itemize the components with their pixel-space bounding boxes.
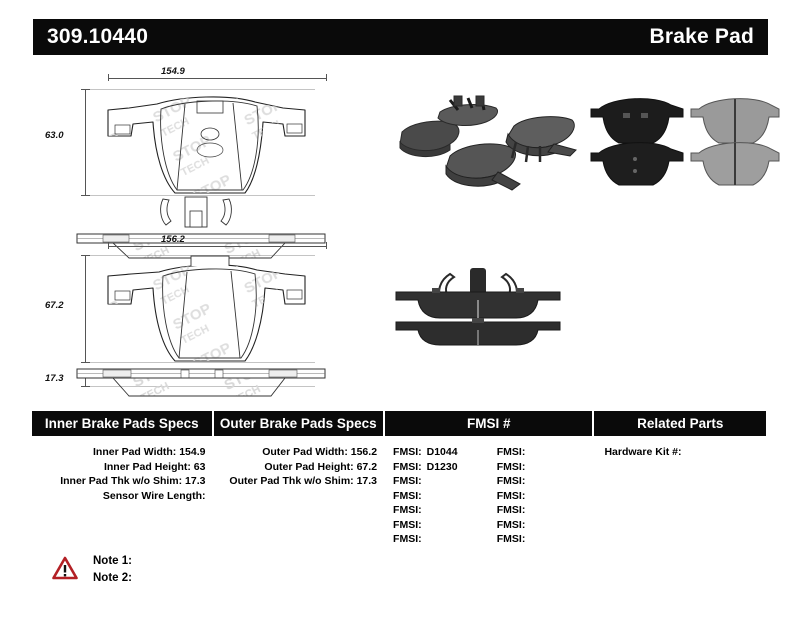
spec-row: Inner Pad Thk w/o Shim: 17.3 bbox=[32, 474, 212, 489]
product-photo-flat-pads bbox=[583, 87, 768, 187]
warning-triangle-icon bbox=[52, 556, 78, 580]
note-line-2: Note 2: bbox=[93, 570, 132, 587]
specs-table: Inner Brake Pads Specs Outer Brake Pads … bbox=[32, 411, 766, 547]
fmsi-row: FMSI: bbox=[489, 445, 593, 460]
fmsi-label: FMSI: bbox=[393, 504, 422, 516]
fmsi-row: FMSI:D1044 bbox=[385, 445, 489, 460]
fmsi-label: FMSI: bbox=[393, 461, 422, 473]
fmsi-value: D1044 bbox=[427, 446, 458, 458]
fmsi-label: FMSI: bbox=[393, 490, 422, 502]
specs-table-header-row: Inner Brake Pads Specs Outer Brake Pads … bbox=[32, 411, 766, 436]
fmsi-subcolumn-left: FMSI:D1044 FMSI:D1230 FMSI: FMSI: FMSI: … bbox=[385, 445, 489, 547]
fmsi-label: FMSI: bbox=[393, 533, 422, 545]
fmsi-column: FMSI:D1044 FMSI:D1230 FMSI: FMSI: FMSI: … bbox=[385, 445, 592, 547]
outer-specs-column: Outer Pad Width: 156.2 Outer Pad Height:… bbox=[214, 445, 384, 547]
note-list: Note 1: Note 2: bbox=[93, 553, 132, 587]
fmsi-row: FMSI: bbox=[489, 532, 593, 547]
note-line-1: Note 1: bbox=[93, 553, 132, 570]
product-type-label: Brake Pad bbox=[649, 25, 754, 49]
notes-section: Note 1: Note 2: bbox=[52, 553, 132, 587]
fmsi-row: FMSI: bbox=[385, 532, 489, 547]
header-related-parts: Related Parts bbox=[594, 411, 766, 436]
fmsi-label: FMSI: bbox=[497, 461, 526, 473]
fmsi-row: FMSI: bbox=[489, 460, 593, 475]
header-fmsi: FMSI # bbox=[385, 411, 592, 436]
fmsi-label: FMSI: bbox=[497, 490, 526, 502]
inner-specs-column: Inner Pad Width: 154.9 Inner Pad Height:… bbox=[32, 445, 212, 547]
outer-pad-edge-view bbox=[33, 366, 363, 411]
inner-pad-drawing: 154.9 63.0 STOP TECH bbox=[33, 62, 363, 222]
related-parts-column: Hardware Kit #: bbox=[594, 445, 766, 547]
fmsi-label: FMSI: bbox=[393, 446, 422, 458]
spec-row: Outer Pad Height: 67.2 bbox=[214, 460, 384, 475]
fmsi-row: FMSI: bbox=[385, 474, 489, 489]
fmsi-row: FMSI: bbox=[385, 518, 489, 533]
product-photo-angled-pads bbox=[388, 84, 588, 199]
spec-row: Outer Pad Width: 156.2 bbox=[214, 445, 384, 460]
spec-row: Inner Pad Width: 154.9 bbox=[32, 445, 212, 460]
related-parts-row: Hardware Kit #: bbox=[594, 445, 766, 460]
fmsi-label: FMSI: bbox=[393, 475, 422, 487]
fmsi-label: FMSI: bbox=[497, 504, 526, 516]
specs-table-body: Inner Pad Width: 154.9 Inner Pad Height:… bbox=[32, 436, 766, 547]
fmsi-row: FMSI: bbox=[489, 474, 593, 489]
product-photo-edge-pads bbox=[388, 252, 573, 347]
fmsi-subcolumn-right: FMSI: FMSI: FMSI: FMSI: FMSI: FMSI: FMSI… bbox=[489, 445, 593, 547]
outer-pad-outline bbox=[33, 230, 363, 370]
fmsi-label: FMSI: bbox=[393, 519, 422, 531]
spec-row: Sensor Wire Length: bbox=[32, 489, 212, 504]
illustration-area: 154.9 63.0 STOP TECH bbox=[33, 62, 768, 392]
fmsi-row: FMSI: bbox=[489, 489, 593, 504]
fmsi-row: FMSI: bbox=[385, 489, 489, 504]
spec-sheet: 309.10440 Brake Pad 154.9 63.0 STOP TEC bbox=[0, 0, 800, 619]
fmsi-label: FMSI: bbox=[497, 533, 526, 545]
fmsi-row: FMSI: bbox=[385, 503, 489, 518]
spec-row: Outer Pad Thk w/o Shim: 17.3 bbox=[214, 474, 384, 489]
fmsi-label: FMSI: bbox=[497, 519, 526, 531]
fmsi-row: FMSI: bbox=[489, 518, 593, 533]
part-number: 309.10440 bbox=[47, 25, 148, 49]
fmsi-value: D1230 bbox=[427, 461, 458, 473]
header-bar: 309.10440 Brake Pad bbox=[33, 19, 768, 55]
fmsi-label: FMSI: bbox=[497, 446, 526, 458]
fmsi-label: FMSI: bbox=[497, 475, 526, 487]
spec-row: Inner Pad Height: 63 bbox=[32, 460, 212, 475]
header-inner-specs: Inner Brake Pads Specs bbox=[32, 411, 212, 436]
header-outer-specs: Outer Brake Pads Specs bbox=[214, 411, 384, 436]
outer-pad-drawing: 156.2 67.2 17.3 bbox=[33, 230, 363, 395]
fmsi-row: FMSI:D1230 bbox=[385, 460, 489, 475]
fmsi-row: FMSI: bbox=[489, 503, 593, 518]
